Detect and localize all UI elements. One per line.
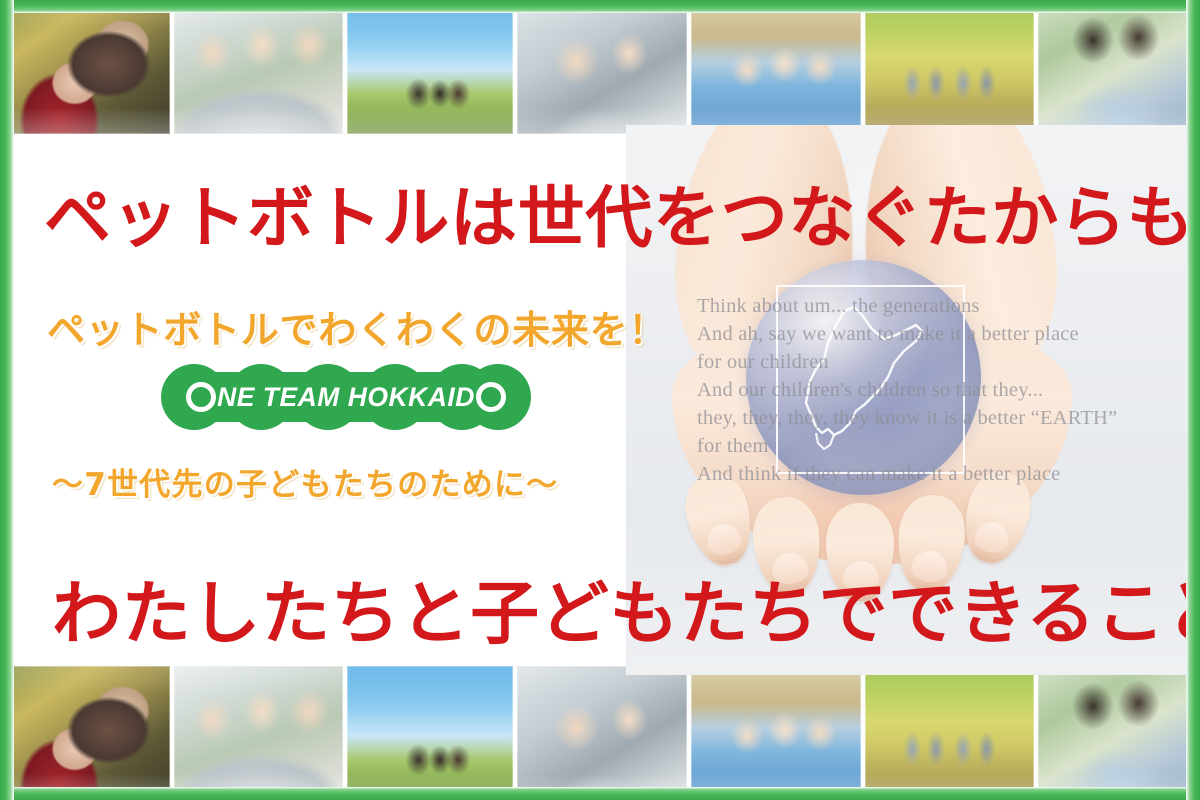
photo-three-children-laughing-on-picnic-mat <box>691 666 861 800</box>
photo-family-sitting-on-grass-under-blue-sky <box>347 666 513 800</box>
photo-family-sitting-on-grass-under-blue-sky <box>347 0 513 134</box>
photo-strip-top <box>0 0 1200 134</box>
photo-three-mothers-with-babies-outdoors <box>174 666 344 800</box>
one-team-hokkaido-logo: NE TEAM HOKKAID <box>160 364 532 430</box>
photo-mother-and-father-with-toddler <box>517 0 687 134</box>
poem-line: And ah, say we want to make it a better … <box>697 320 1192 348</box>
poster-content: ペットボトルは世代をつなぐたからもの。 ペットボトルでわくわくの未来を！ NE … <box>0 134 1200 666</box>
poem-line: for them <box>697 432 1192 460</box>
logo-ring-o-leading <box>186 382 216 412</box>
logo-wordmark: NE TEAM HOKKAID <box>185 382 507 413</box>
photo-grandfather-holding-toddler-autumn-park <box>0 0 170 134</box>
logo-middle-text: NE TEAM HOKKAID <box>217 382 475 413</box>
poem-line: they, they, they, they know it is a bett… <box>697 404 1192 432</box>
photo-three-mothers-with-babies-outdoors <box>174 0 344 134</box>
photo-grandfather-holding-toddler-autumn-park <box>0 666 170 800</box>
poster-root: ペットボトルは世代をつなぐたからもの。 ペットボトルでわくわくの未来を！ NE … <box>0 0 1200 800</box>
photo-family-group-standing-in-rice-field <box>865 0 1035 134</box>
subheadline-secondary: ～7世代先の子どもたちのために～ <box>52 459 558 504</box>
poem-line: And think if they can make it a better p… <box>697 460 1192 488</box>
poem-line: for our children <box>697 348 1192 376</box>
logo-text-wrap: NE TEAM HOKKAID <box>160 364 532 430</box>
poem-line: Think about um... the generations <box>697 292 1192 320</box>
photo-two-children-reading-book-together <box>1038 0 1200 134</box>
poem-line: And our children's children so that they… <box>697 376 1192 404</box>
subheadline-primary: ペットボトルでわくわくの未来を！ <box>47 299 667 354</box>
main-headline-top: ペットボトルは世代をつなぐたからもの。 <box>44 164 1200 261</box>
photo-two-children-reading-book-together <box>1038 666 1200 800</box>
main-headline-bottom: わたしたちと子どもたちでできること。 <box>52 557 1200 657</box>
logo-ring-o-trailing <box>476 382 506 412</box>
english-poem: Think about um... the generations And ah… <box>697 292 1192 488</box>
photo-strip-bottom <box>0 666 1200 800</box>
photo-three-children-laughing-on-picnic-mat <box>691 0 861 134</box>
photo-mother-and-father-with-toddler <box>517 666 687 800</box>
photo-family-group-standing-in-rice-field <box>865 666 1035 800</box>
